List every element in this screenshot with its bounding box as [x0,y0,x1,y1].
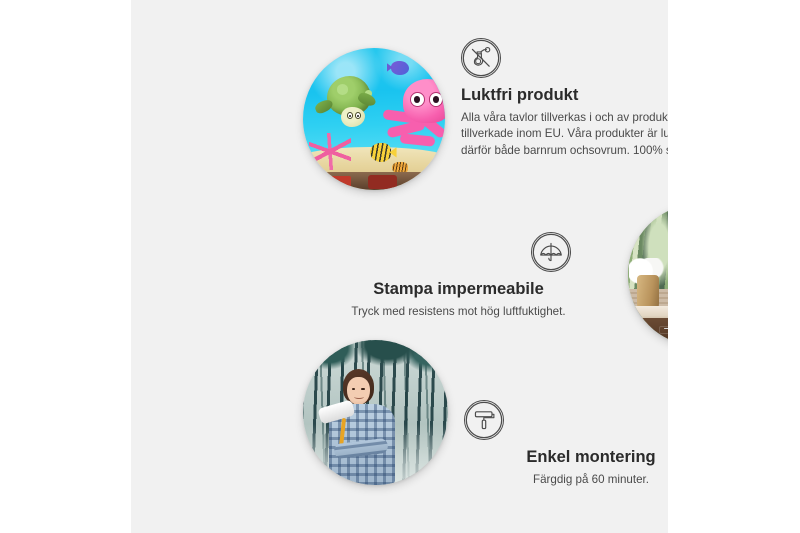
umbrella-icon [531,232,571,272]
underwater-coral [309,133,352,170]
feature-easy-assembly: Enkel montering Färgdig på 60 minuter. [461,400,668,488]
umbrella-icon-wrap [321,232,596,272]
feature-waterproof-print: Stampa impermeabile Tryck med resistens … [321,232,596,320]
underwater-kids-mural-circle [303,48,445,190]
underwater-purple-fish [391,61,409,75]
feature-description: Tryck med resistens mot hög luftfuktighe… [321,304,596,320]
paint-roller-icon [464,400,504,440]
no-odor-spray-bottle-icon-wrap [461,38,668,78]
painter-woman [320,369,407,485]
underwater-turtle [319,76,379,130]
feature-description: Alla våra tavlor tillverkas i och av pro… [461,110,668,159]
underwater-room-foreground [303,172,445,190]
underwater-yellow-fish [370,143,391,161]
paint-roller-icon-wrap [461,400,668,440]
feature-panel: Luktfri produkt Alla våra tavlor tillver… [131,0,668,533]
bathroom-wooden-cabinet [639,318,668,346]
bathroom-vanity-circle [628,204,668,346]
screenshot-canvas: Luktfri produkt Alla våra tavlor tillver… [0,0,800,533]
feature-title: Enkel montering [461,447,668,468]
painter-forest-circle [303,340,448,485]
feature-description: Färgdig på 60 minuter. [461,472,668,488]
feature-title: Luktfri produkt [461,85,668,106]
feature-title: Stampa impermeabile [321,279,596,300]
no-odor-spray-bottle-icon [461,38,501,78]
feature-odour-free: Luktfri produkt Alla våra tavlor tillver… [461,38,668,159]
underwater-octopus [385,79,445,147]
